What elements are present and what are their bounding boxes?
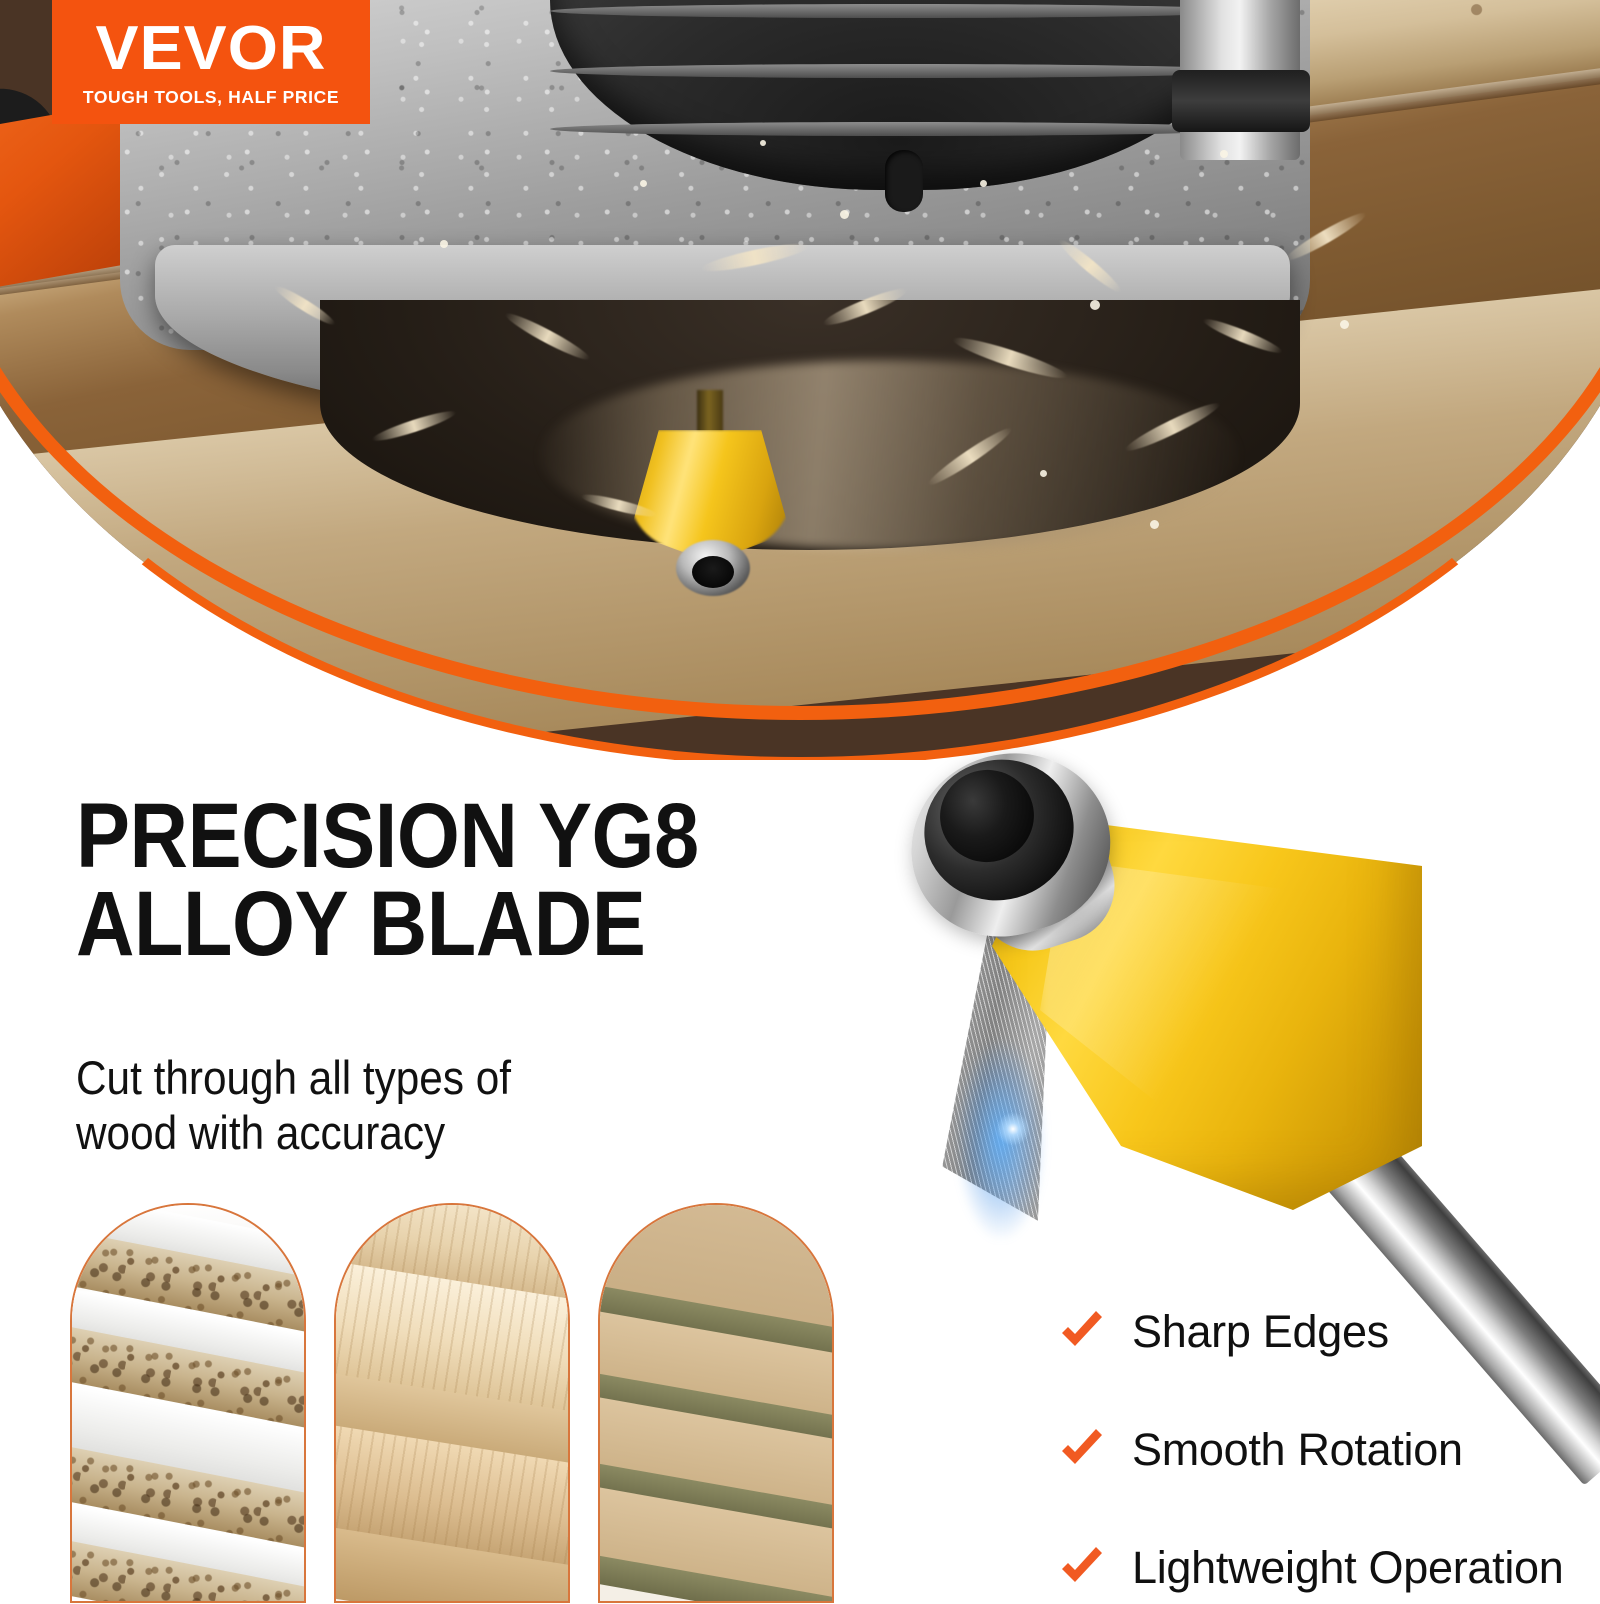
feature-item-sharp-edges: Sharp Edges: [1058, 1296, 1563, 1368]
pine-lumber-image: [336, 1205, 568, 1601]
page-title: PRECISION YG8 ALLOY BLADE: [76, 792, 699, 969]
brand-name: VEVOR: [96, 18, 327, 80]
subhead-line-1: Cut through all types of: [76, 1050, 511, 1105]
check-icon: [1058, 1426, 1106, 1474]
thumbnail-pine-lumber: [334, 1203, 570, 1603]
headline-line-1: PRECISION YG8: [76, 792, 699, 880]
mdf-plywood-image: [600, 1205, 832, 1601]
feature-label: Lightweight Operation: [1132, 1542, 1563, 1594]
brand-tagline: TOUGH TOOLS, HALF PRICE: [83, 89, 339, 107]
sparkle-icon: [996, 1112, 1030, 1146]
feature-item-lightweight-operation: Lightweight Operation: [1058, 1532, 1563, 1604]
page-subtitle: Cut through all types of wood with accur…: [76, 1050, 511, 1161]
check-icon: [1058, 1544, 1106, 1592]
check-icon: [1058, 1308, 1106, 1356]
vevor-logo: VEVOR TOUGH TOOLS, HALF PRICE: [52, 0, 370, 124]
feature-label: Sharp Edges: [1132, 1306, 1389, 1358]
thumbnail-particle-board: [70, 1203, 306, 1603]
subhead-line-2: wood with accuracy: [76, 1105, 511, 1160]
material-thumbnails: [70, 1203, 870, 1603]
feature-item-smooth-rotation: Smooth Rotation: [1058, 1414, 1563, 1486]
thumbnail-mdf-plywood: [598, 1203, 834, 1603]
headline-line-2: ALLOY BLADE: [76, 880, 699, 968]
feature-label: Smooth Rotation: [1132, 1424, 1463, 1476]
feature-list: Sharp Edges Smooth Rotation Lightweight …: [1058, 1296, 1563, 1604]
particle-board-image: [72, 1205, 304, 1601]
